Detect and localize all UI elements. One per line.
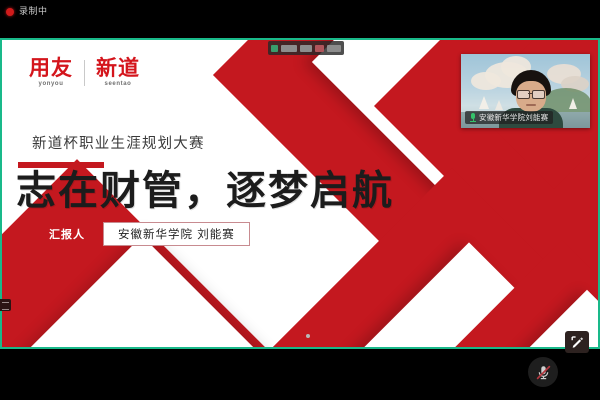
toolbar-button-1[interactable] xyxy=(281,45,297,52)
screen-share-toolbar[interactable] xyxy=(268,41,344,55)
stop-share-button[interactable] xyxy=(315,45,324,52)
recording-label: 录制中 xyxy=(19,7,48,16)
meeting-screen-share-view: 录制中 用友 yonyou 新道 seentao 新道杯职业生涯规划大赛 xyxy=(0,0,600,400)
logo-yonyou-cn: 用友 xyxy=(29,58,73,79)
slide-main-title: 志在财管，逐梦启航 xyxy=(16,168,394,214)
recording-dot-icon xyxy=(6,8,14,16)
pen-annotate-icon xyxy=(570,335,584,349)
presenter-row: 汇报人 安徽新华学院 刘能赛 xyxy=(40,222,250,246)
annotate-button[interactable] xyxy=(565,331,589,353)
logo-seentao-en: seentao xyxy=(105,81,132,87)
left-edge-panel-toggle[interactable] xyxy=(0,299,11,311)
slide-subtitle: 新道杯职业生涯规划大赛 xyxy=(32,132,205,153)
logo-seentao-cn: 新道 xyxy=(96,58,140,79)
participant-name-text: 安徽新华学院刘能赛 xyxy=(479,114,548,122)
toolbar-button-2[interactable] xyxy=(300,45,312,52)
slide-title-arrow-icon xyxy=(392,182,408,210)
brand-logo: 用友 yonyou 新道 seentao xyxy=(18,58,151,87)
participant-video-thumbnail[interactable]: 安徽新华学院刘能赛 xyxy=(461,54,590,128)
microphone-muted-icon xyxy=(535,364,552,381)
recording-indicator: 录制中 xyxy=(6,7,48,16)
logo-yonyou: 用友 yonyou xyxy=(18,58,84,87)
presenter-name: 安徽新华学院 刘能赛 xyxy=(103,222,250,246)
logo-seentao: 新道 seentao xyxy=(85,58,151,87)
presenter-badge: 汇报人 xyxy=(40,222,94,246)
microphone-icon xyxy=(470,113,476,122)
microphone-toggle-button[interactable] xyxy=(528,357,558,387)
slide-decor-dot xyxy=(306,334,310,338)
participant-name-label: 安徽新华学院刘能赛 xyxy=(465,111,553,124)
toolbar-button-3[interactable] xyxy=(327,45,341,52)
logo-yonyou-en: yonyou xyxy=(39,81,64,87)
share-active-indicator[interactable] xyxy=(271,45,278,52)
